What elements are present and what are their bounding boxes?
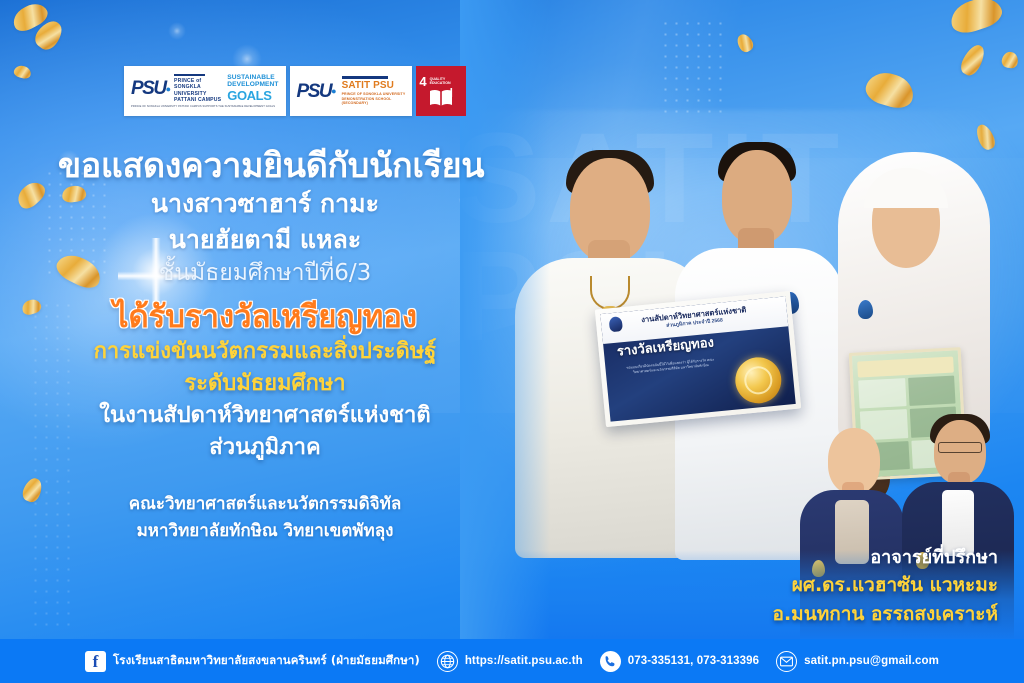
event-scope: ส่วนภูมิภาค — [0, 432, 530, 463]
sparkle-tiny — [168, 22, 186, 40]
advisor-name-2: อ.มนทกาน อรรถสงเคราะห์ — [773, 600, 998, 629]
competition-level: ระดับมัธยมศึกษา — [0, 368, 530, 400]
satit-wordmark: SATIT PSU PRINCE OF SONGKLA UNIVERSITY D… — [342, 76, 406, 106]
psu-sdg-logo-card: PSU ● PRINCE of SONGKLA UNIVERSITY PATTA… — [124, 66, 286, 116]
sdg-line-1: SUSTAINABLE — [227, 74, 278, 81]
facebook-icon[interactable]: f — [85, 651, 106, 672]
psu-university-lines: PRINCE of SONGKLA UNIVERSITY PATTANI CAM… — [174, 78, 221, 104]
mail-icon[interactable] — [776, 651, 797, 672]
poster-column — [858, 378, 906, 409]
student-name-1: นางสาวซาฮาร์ กามะ — [0, 186, 530, 222]
satit-title: SATIT PSU — [342, 81, 406, 92]
psu-wordmark: PSU — [131, 79, 166, 98]
psu-dot-icon: ● — [331, 86, 336, 96]
contact-footer: f โรงเรียนสาธิตมหาวิทยาลัยสงขลานครินทร์ … — [0, 639, 1024, 683]
sdg4-quality-education-logo: 4 QUALITY EDUCATION — [416, 66, 466, 116]
student-name-2: นายฮัยตามี แหละ — [0, 222, 530, 258]
phone-numbers: 073-335131, 073-313396 — [628, 655, 759, 667]
globe-glyph — [440, 654, 455, 669]
logo-strip: PSU ● PRINCE of SONGKLA UNIVERSITY PATTA… — [124, 66, 466, 116]
host-university: มหาวิทยาลัยทักษิณ วิทยาเขตพัทลุง — [0, 518, 530, 545]
satit-psu-logo-card: PSU ● SATIT PSU PRINCE OF SONGKLA UNIVER… — [290, 66, 413, 116]
footer-website[interactable]: https://satit.psu.ac.th — [437, 651, 583, 672]
footer-facebook[interactable]: f โรงเรียนสาธิตมหาวิทยาลัยสงขลานครินทร์ … — [85, 651, 420, 672]
sdg-goals-text: GOALS — [227, 89, 278, 104]
satit-rule — [342, 76, 388, 79]
school-emblem-icon — [858, 300, 873, 319]
facebook-page-name: โรงเรียนสาธิตมหาวิทยาลัยสงขลานครินทร์ (ฝ… — [113, 652, 420, 670]
psu-rule — [174, 74, 205, 77]
psu-wordmark: PSU — [297, 82, 332, 101]
globe-icon[interactable] — [437, 651, 458, 672]
sdg4-header: 4 QUALITY EDUCATION — [419, 75, 463, 88]
satit-subtitle: PRINCE OF SONGKLA UNIVERSITY DEMONSTRATI… — [342, 92, 406, 106]
poster-title-band — [857, 357, 954, 378]
poster-row — [858, 376, 955, 409]
envelope-glyph — [780, 656, 793, 667]
certificate-inner: งานสัปดาห์วิทยาศาสตร์แห่งชาติ ส่วนภูมิภา… — [600, 296, 795, 421]
advisors-heading: อาจารย์ที่ปรึกษา — [773, 544, 998, 571]
page-title: ขอแสดงความยินดีกับนักเรียน — [12, 146, 530, 186]
host-faculty: คณะวิทยาศาสตร์และนวัตกรรมดิจิทัล — [0, 491, 530, 518]
advisors-block: อาจารย์ที่ปรึกษา ผศ.ดร.แวฮาซัน แวหะมะ อ.… — [773, 544, 998, 629]
footer-phone[interactable]: 073-335131, 073-313396 — [600, 651, 759, 672]
poster-column — [908, 376, 956, 407]
psu-fineprint: PRINCE OF SONGKLA UNIVERSITY PATTANI CAM… — [131, 106, 279, 109]
student-grade: ชั้นมัธยมศึกษาปีที่6/3 — [0, 257, 530, 289]
sdg-wordmark: SUSTAINABLE DEVELOPMENT GOALS — [227, 74, 278, 103]
gold-medal-icon — [733, 355, 783, 405]
website-url: https://satit.psu.ac.th — [465, 655, 583, 667]
confetti-ribbon — [13, 64, 32, 80]
sdg4-number: 4 — [419, 75, 426, 88]
eyeglasses-icon — [938, 442, 982, 453]
phone-glyph — [604, 655, 617, 668]
gold-award-certificate: งานสัปดาห์วิทยาศาสตร์แห่งชาติ ส่วนภูมิภา… — [595, 291, 801, 427]
advisor-name-1: ผศ.ดร.แวฮาซัน แวหะมะ — [773, 571, 998, 600]
congratulations-banner: SATIT PSU — [0, 0, 1024, 683]
competition-name: การแข่งขันนวัตกรรมและสิ่งประดิษฐ์ — [0, 336, 530, 368]
award-title: ได้รับรางวัลเหรียญทอง — [0, 299, 530, 336]
open-book-icon — [428, 88, 454, 108]
sdg4-label: QUALITY EDUCATION — [430, 77, 451, 85]
event-name: ในงานสัปดาห์วิทยาศาสตร์แห่งชาติ — [0, 400, 530, 431]
email-address: satit.pn.psu@gmail.com — [804, 655, 939, 667]
psu-dot-icon: ● — [166, 84, 171, 94]
footer-email[interactable]: satit.pn.psu@gmail.com — [776, 651, 939, 672]
main-text-block: ขอแสดงความยินดีกับนักเรียน นางสาวซาฮาร์ … — [0, 146, 530, 544]
phone-icon[interactable] — [600, 651, 621, 672]
